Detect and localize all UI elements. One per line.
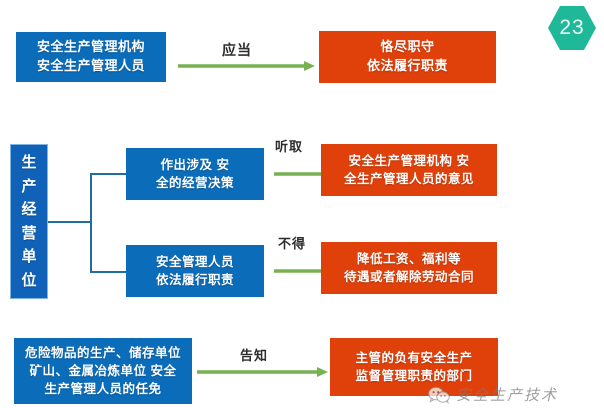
row1-target-line-1: 恪尽职守 bbox=[380, 38, 434, 57]
row4-source-line-3: 生产管理人员的任免 bbox=[44, 380, 161, 398]
row4-relation-label: 告知 bbox=[240, 345, 268, 364]
vplate-char-4: 单 bbox=[21, 249, 36, 264]
row3-target-line-2: 待遇或者解除劳动合同 bbox=[344, 268, 474, 286]
vplate-char-0: 生 bbox=[21, 155, 36, 170]
row4-target-line-2: 监督管理职责的部门 bbox=[355, 367, 472, 385]
row4-source-line-1: 危险物品的生产、储存单位 bbox=[25, 344, 181, 362]
row4-target-line-1: 主管的负有安全生产 bbox=[355, 349, 472, 367]
vertical-entity-plate[interactable]: 生 产 经 营 单 位 bbox=[10, 144, 48, 299]
row3-source-box[interactable]: 安全管理人员 依法履行职责 bbox=[126, 245, 264, 297]
row3-source-line-2: 依法履行职责 bbox=[156, 271, 234, 289]
vplate-char-5: 位 bbox=[21, 273, 36, 288]
wechat-icon bbox=[428, 386, 450, 404]
row1-source-line-2: 安全生产管理人员 bbox=[37, 57, 145, 76]
row1-target-box[interactable]: 恪尽职守 依法履行职责 bbox=[319, 31, 496, 83]
row4-arrow bbox=[197, 366, 329, 378]
connector-stem bbox=[48, 221, 92, 223]
connector-branch-row3 bbox=[90, 271, 126, 273]
watermark-label: 安全生产技术 bbox=[456, 384, 558, 405]
vplate-char-2: 经 bbox=[21, 202, 36, 217]
connector-spine bbox=[90, 173, 92, 273]
row4-source-line-2: 矿山、金属冶炼单位 安全 bbox=[30, 362, 177, 380]
vplate-char-1: 产 bbox=[21, 179, 36, 194]
row3-target-box[interactable]: 降低工资、福利等 待遇或者解除劳动合同 bbox=[321, 242, 497, 294]
row2-target-line-1: 安全生产管理机构 安 bbox=[349, 152, 470, 170]
row2-source-line-1: 作出涉及 安 bbox=[161, 156, 230, 174]
page-number-label: 23 bbox=[559, 16, 584, 40]
row2-source-line-2: 全的经营决策 bbox=[156, 174, 234, 192]
row1-relation-label: 应当 bbox=[222, 40, 252, 60]
row3-target-line-1: 降低工资、福利等 bbox=[357, 250, 461, 268]
row2-target-box[interactable]: 安全生产管理机构 安 全生产管理人员的意见 bbox=[321, 144, 497, 196]
row2-target-line-2: 全生产管理人员的意见 bbox=[344, 170, 474, 188]
row4-source-box[interactable]: 危险物品的生产、储存单位 矿山、金属冶炼单位 安全 生产管理人员的任免 bbox=[14, 338, 192, 404]
row1-arrow bbox=[178, 60, 316, 72]
row2-source-box[interactable]: 作出涉及 安 全的经营决策 bbox=[126, 148, 264, 200]
row2-relation-label: 听取 bbox=[275, 136, 303, 155]
page-number-badge: 23 bbox=[548, 6, 596, 50]
row1-target-line-2: 依法履行职责 bbox=[367, 57, 448, 76]
watermark: 安全生产技术 bbox=[428, 384, 558, 405]
row1-source-box[interactable]: 安全生产管理机构 安全生产管理人员 bbox=[16, 32, 166, 82]
row1-source-line-1: 安全生产管理机构 bbox=[37, 38, 145, 57]
connector-branch-row2 bbox=[90, 173, 126, 175]
vplate-char-3: 营 bbox=[21, 226, 36, 241]
slide-canvas: 23 安全生产管理机构 安全生产管理人员 应当 恪尽职守 依法履行职责 生 产 … bbox=[0, 0, 604, 408]
row3-relation-label: 不得 bbox=[278, 233, 306, 252]
row3-source-line-1: 安全管理人员 bbox=[156, 253, 234, 271]
